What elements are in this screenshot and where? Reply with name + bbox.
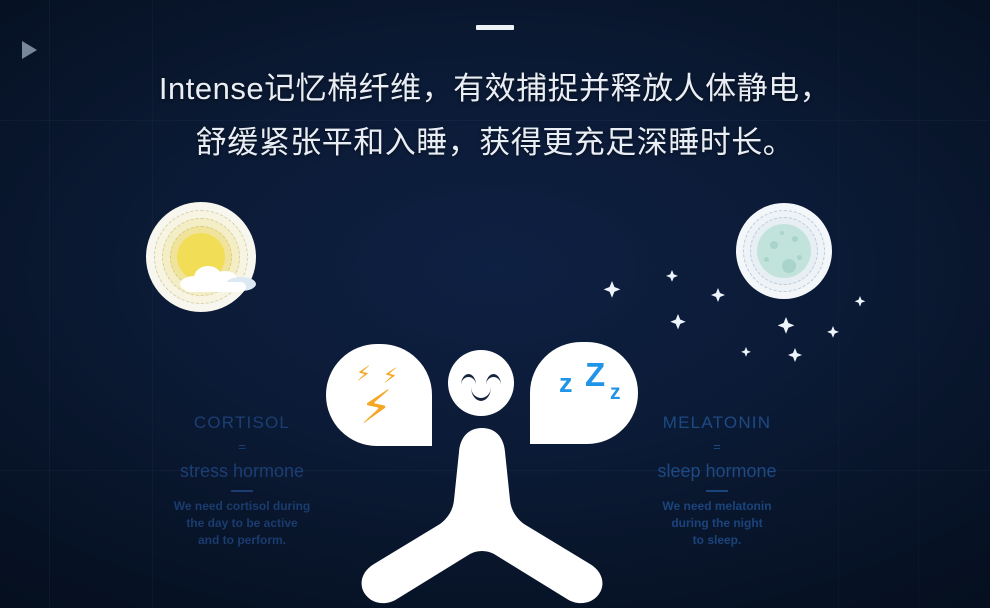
sparkle-icon xyxy=(855,296,866,307)
moon-crater xyxy=(770,241,778,249)
sparkle-icon xyxy=(827,326,839,338)
sparkle-icon xyxy=(711,288,725,302)
moon-crater xyxy=(764,257,769,262)
infographic-canvas: Intense记忆棉纤维，有效捕捉并释放人体静电， 舒缓紧张平和入睡，获得更充足… xyxy=(0,0,990,608)
sun-with-cloud-icon xyxy=(146,202,256,312)
top-divider xyxy=(476,25,514,30)
cortisol-description: We need cortisol during the day to be ac… xyxy=(127,498,357,549)
sparkle-icon xyxy=(788,348,802,362)
melatonin-title: MELATONIN xyxy=(602,412,832,434)
sparkle-icon xyxy=(604,281,621,298)
moon-crater xyxy=(792,236,798,242)
cortisol-description-line: We need cortisol during xyxy=(127,498,357,515)
headline-line-1: Intense记忆棉纤维，有效捕捉并释放人体静电， xyxy=(0,62,990,116)
cloud-icon xyxy=(180,264,256,290)
sparkle-icon xyxy=(741,347,751,357)
sparkle-icon xyxy=(666,270,678,282)
cortisol-panel: CORTISOL = stress hormone We need cortis… xyxy=(127,412,357,549)
page-headline: Intense记忆棉纤维，有效捕捉并释放人体静电， 舒缓紧张平和入睡，获得更充足… xyxy=(0,62,990,170)
melatonin-description-line: We need melatonin xyxy=(602,498,832,515)
eye-right-icon xyxy=(486,374,501,385)
melatonin-description-line: during the night xyxy=(602,515,832,532)
melatonin-panel: MELATONIN = sleep hormone We need melato… xyxy=(602,412,832,549)
melatonin-description: We need melatonin during the night to sl… xyxy=(602,498,832,549)
melatonin-description-line: to sleep. xyxy=(602,532,832,549)
moon-crater xyxy=(797,255,802,260)
meditating-person-figure: ⚡ ⚡ ⚡ z Z z xyxy=(322,332,642,608)
person-head xyxy=(448,350,514,416)
cortisol-title: CORTISOL xyxy=(127,412,357,434)
cortisol-description-line: and to perform. xyxy=(127,532,357,549)
cortisol-subtitle: stress hormone xyxy=(127,459,357,483)
melatonin-divider xyxy=(706,490,728,492)
moon-crater xyxy=(782,259,796,273)
play-triangle-icon[interactable] xyxy=(22,41,37,59)
melatonin-equals: = xyxy=(602,436,832,458)
headline-line-2: 舒缓紧张平和入睡，获得更充足深睡时长。 xyxy=(0,116,990,170)
moon-icon xyxy=(736,203,832,299)
moon-crater xyxy=(780,231,784,235)
cortisol-divider xyxy=(231,490,253,492)
eye-left-icon xyxy=(461,374,476,385)
sparkle-icon xyxy=(778,317,795,334)
sparkle-icon xyxy=(670,314,685,329)
cortisol-description-line: the day to be active xyxy=(127,515,357,532)
cortisol-equals: = xyxy=(127,436,357,458)
smile-icon xyxy=(471,387,491,401)
melatonin-subtitle: sleep hormone xyxy=(602,459,832,483)
